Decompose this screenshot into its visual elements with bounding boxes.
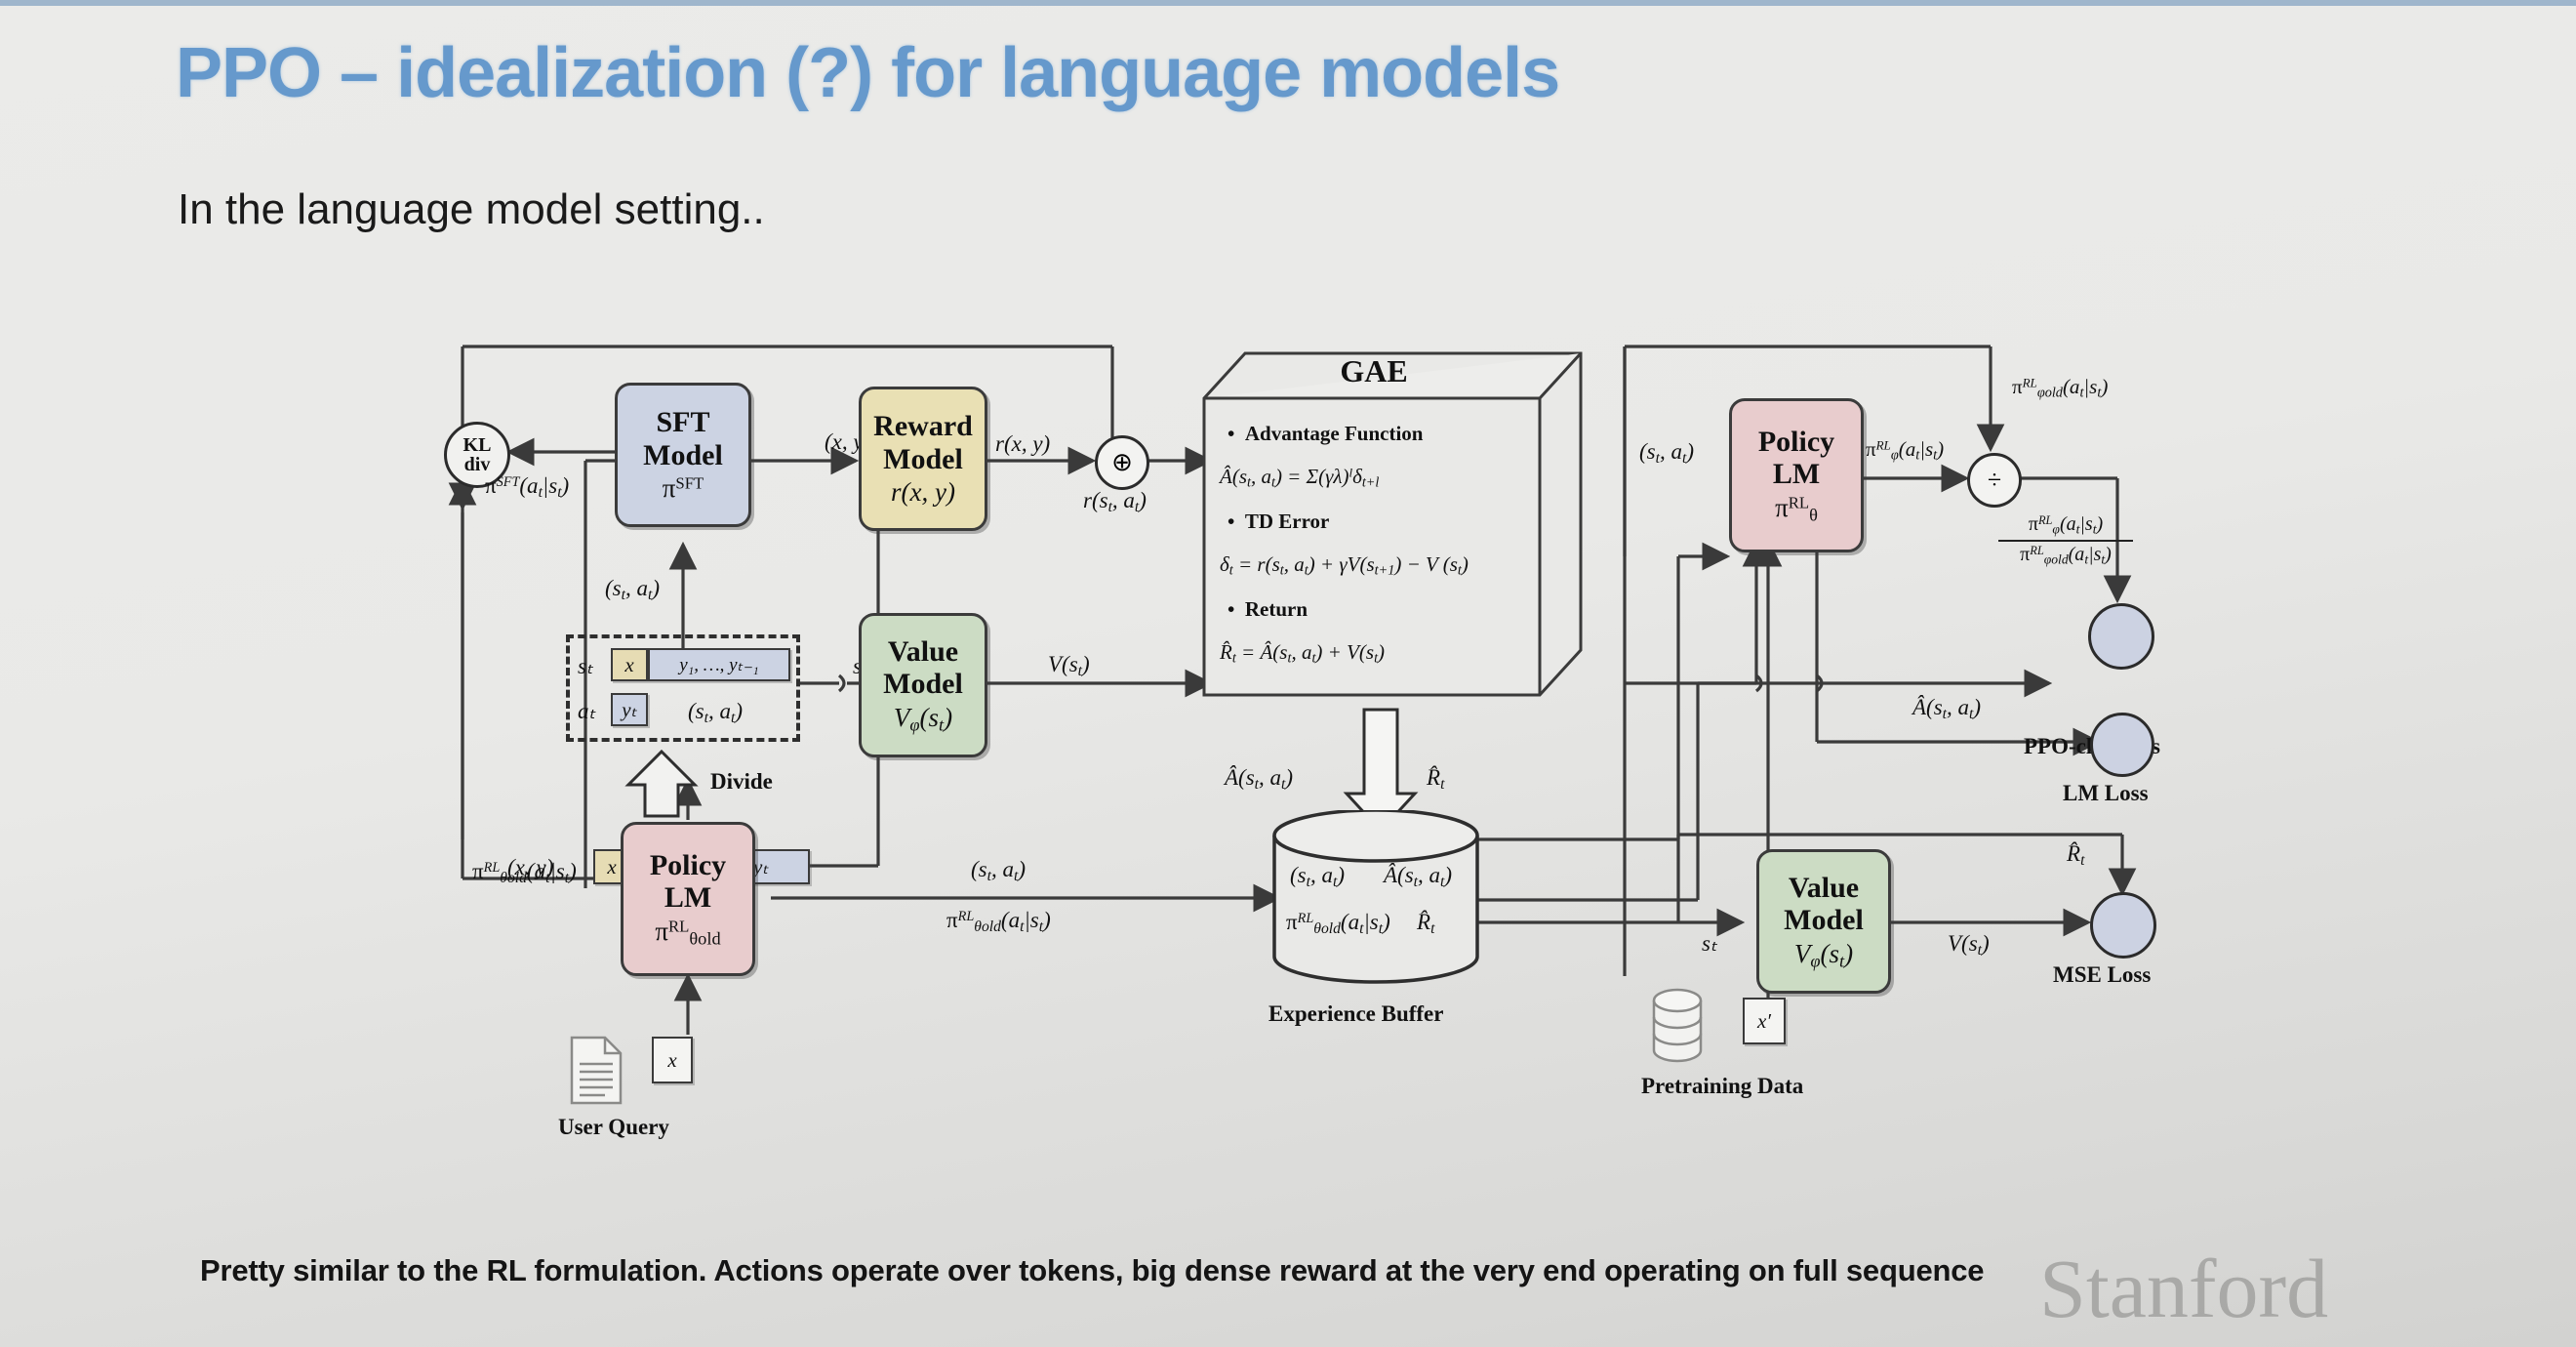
st-label: sₜ — [578, 654, 593, 679]
value-model-top-formula: Vφ(st) — [894, 703, 952, 735]
st-at-to-buffer-label: (st, at) — [971, 857, 1026, 885]
ppo-ratio-fraction: πRLφ(at|st) πRLφold(at|st) — [1973, 513, 2158, 567]
pi-sft-edge-label: πSFT(at|st) — [485, 473, 569, 502]
ratio-bar — [1998, 540, 2133, 542]
divide-caption: Divide — [710, 769, 773, 795]
sft-model-policy-symbol: πSFT — [663, 473, 704, 503]
buffer-row1-left: (st, at) — [1290, 863, 1345, 891]
slide-caption: Pretty similar to the RL formulation. Ac… — [200, 1253, 1984, 1288]
policy-lm-old-line2: LM — [664, 881, 711, 915]
v-st-label-top: V(st) — [1048, 652, 1090, 680]
pi-theta-old-to-buffer-label: πRLθold(at|st) — [946, 908, 1051, 936]
buffer-row2-right: R̂t — [1417, 910, 1434, 938]
slide-subtitle: In the language model setting.. — [178, 185, 765, 234]
policy-lm-rl-node[interactable]: Policy LM πRLθ — [1729, 398, 1864, 552]
st-at-to-policy-label: (st, at) — [1639, 439, 1694, 468]
pi-phi-label: πRLφ(at|st) — [1866, 437, 1944, 465]
mse-loss-node — [2090, 892, 2156, 959]
ppo-clip-loss-node — [2088, 603, 2154, 670]
value-model-node-top[interactable]: Value Model Vφ(st) — [859, 613, 987, 757]
reward-model-line2: Model — [883, 443, 963, 476]
policy-lm-rl-line2: LM — [1773, 458, 1820, 491]
pretraining-data-caption: Pretraining Data — [1641, 1074, 1803, 1099]
token-y-t: yₜ — [611, 693, 648, 726]
page-title: PPO – idealization (?) for language mode… — [176, 33, 1559, 113]
gae-bullet-1-text: TD Error — [1245, 510, 1330, 533]
kl-div-line2: div — [464, 455, 491, 474]
gae-formula-0: Â(st, at) = Σ(γλ)lδt+l — [1220, 465, 1379, 492]
return-arrow-label: R̂t — [1427, 765, 1444, 794]
sft-model-node[interactable]: SFT Model πSFT — [615, 383, 751, 527]
buffer-row2-left: πRLθold(at|st) — [1286, 910, 1390, 938]
divide-up-arrow-icon — [624, 750, 703, 818]
st-to-value-bottom-label: sₜ — [1702, 931, 1717, 957]
ratio-denominator: πRLφold(at|st) — [1973, 544, 2158, 568]
return-to-mse-label: R̂t — [2067, 841, 2084, 870]
document-icon — [568, 1035, 624, 1107]
value-model-top-line2: Model — [883, 668, 963, 701]
gae-formula-1: δt = r(st, at) + γV(st+1) − V (st) — [1220, 552, 1469, 580]
reward-model-formula: r(x, y) — [891, 477, 955, 507]
user-query-caption: User Query — [558, 1115, 669, 1140]
token-x-query: x — [652, 1037, 693, 1083]
kl-div-line1: KL — [463, 435, 492, 455]
top-accent-strip — [0, 0, 2576, 6]
gae-title: GAE — [1198, 353, 1550, 389]
experience-buffer-caption: Experience Buffer — [1268, 1001, 1443, 1027]
advantage-arrow-label: Â(st, at) — [1225, 765, 1293, 794]
sum-operator-node: ⊕ — [1095, 435, 1149, 490]
gae-bullet-2: • Return — [1228, 597, 1308, 622]
token-y-prefix: y₁, …, yₜ₋₁ — [648, 648, 790, 681]
value-model-bottom-line1: Value — [1789, 872, 1859, 905]
experience-buffer-cylinder — [1268, 810, 1483, 992]
ratio-numerator: πRLφ(at|st) — [1973, 513, 2158, 538]
policy-lm-old-symbol: πRLθold — [655, 917, 720, 949]
policy-lm-rl-line1: Policy — [1758, 426, 1834, 459]
token-x-state: x — [611, 648, 648, 681]
database-icon — [1649, 988, 1706, 1064]
value-model-top-line1: Value — [888, 635, 958, 669]
gae-formula-2: R̂t = Â(st, at) + V(st) — [1220, 640, 1385, 668]
policy-lm-old-line1: Policy — [650, 849, 726, 882]
policy-lm-old-node[interactable]: Policy LM πRLθold — [621, 822, 755, 976]
gae-bullet-2-text: Return — [1245, 597, 1308, 621]
gae-bullet-0-text: Advantage Function — [1245, 422, 1424, 445]
pi-theta-old-left-label: πRLθold(at|st) — [472, 859, 577, 887]
gae-bullet-0: • Advantage Function — [1228, 422, 1423, 446]
reward-model-node[interactable]: Reward Model r(x, y) — [859, 387, 987, 531]
buffer-row1-right: Â(st, at) — [1384, 863, 1452, 891]
value-model-bottom-formula: Vφ(st) — [1794, 939, 1853, 971]
r-st-at-label: r(st, at) — [1083, 488, 1147, 516]
advantage-to-ppo-label: Â(st, at) — [1912, 695, 1981, 723]
reward-model-line1: Reward — [873, 410, 973, 443]
token-x-prime: x′ — [1743, 998, 1786, 1044]
at-label: aₜ — [578, 699, 595, 724]
ppo-architecture-diagram: KL div πSFT(at|st) SFT Model πSFT (st, a… — [0, 293, 2576, 1201]
st-at-to-sft-label: (st, at) — [605, 576, 660, 604]
value-model-node-bottom[interactable]: Value Model Vφ(st) — [1756, 849, 1891, 994]
r-xy-label: r(x, y) — [995, 431, 1050, 457]
lm-loss-node — [2090, 713, 2154, 777]
pi-phi-old-label: πRLφold(at|st) — [2012, 375, 2108, 402]
policy-lm-rl-symbol: πRLθ — [1775, 493, 1818, 525]
gae-bullet-1: • TD Error — [1228, 510, 1329, 534]
mse-loss-caption: MSE Loss — [2053, 962, 2151, 988]
lm-loss-caption: LM Loss — [2063, 781, 2149, 806]
stanford-watermark: Stanford — [2039, 1240, 2328, 1337]
v-st-label-bottom: V(st) — [1948, 931, 1990, 959]
divide-operator-node: ÷ — [1967, 453, 2022, 508]
value-model-bottom-line2: Model — [1784, 904, 1864, 937]
sft-model-line2: Model — [643, 439, 723, 472]
st-at-pair-label: (st, at) — [688, 699, 743, 727]
sft-model-line1: SFT — [656, 406, 709, 439]
